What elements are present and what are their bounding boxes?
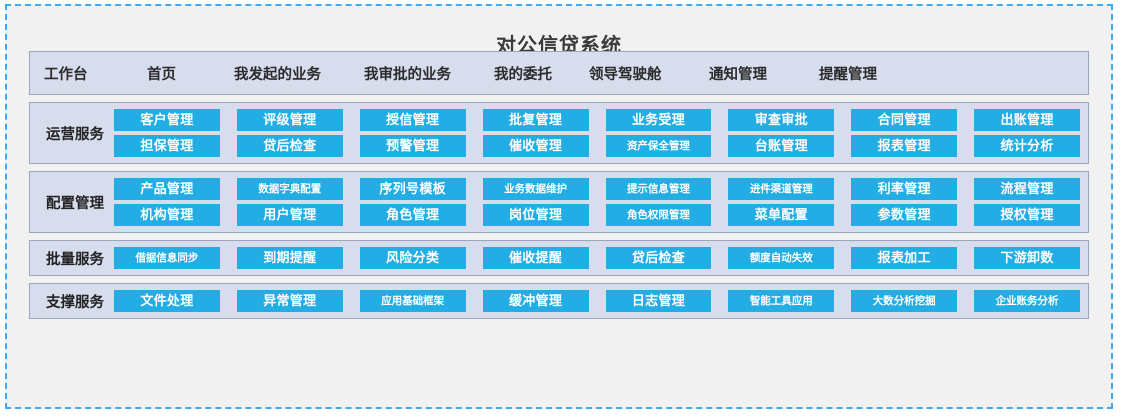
- main-navigation-bar: 工作台首页我发起的业务我审批的业务我的委托领导驾驶舱通知管理提醒管理: [29, 51, 1089, 95]
- section-tile-grid-2: 借据信息同步到期提醒风险分类催收提醒贷后检查额度自动失效报表加工下游卸数: [114, 247, 1080, 269]
- module-tile[interactable]: 提示信息管理: [606, 178, 712, 200]
- nav-item-1[interactable]: 首页: [147, 63, 176, 84]
- module-tile[interactable]: 催收管理: [483, 135, 589, 157]
- module-tile[interactable]: 台账管理: [728, 135, 834, 157]
- section-tile-grid-1: 产品管理数据字典配置序列号模板业务数据维护提示信息管理进件渠道管理利率管理流程管…: [114, 178, 1080, 226]
- module-tile[interactable]: 角色权限管理: [606, 204, 712, 226]
- module-tile[interactable]: 借据信息同步: [114, 247, 220, 269]
- module-tile[interactable]: 角色管理: [360, 204, 466, 226]
- module-tile[interactable]: 文件处理: [114, 290, 220, 312]
- module-tile[interactable]: 催收提醒: [483, 247, 589, 269]
- module-tile[interactable]: 业务数据维护: [483, 178, 589, 200]
- module-tile[interactable]: 序列号模板: [360, 178, 466, 200]
- module-tile[interactable]: 批复管理: [483, 109, 589, 131]
- module-tile[interactable]: 额度自动失效: [728, 247, 834, 269]
- module-tile[interactable]: 客户管理: [114, 109, 220, 131]
- module-tile[interactable]: 报表加工: [851, 247, 957, 269]
- module-tile[interactable]: 进件渠道管理: [728, 178, 834, 200]
- section-label-2: 批量服务: [30, 248, 114, 269]
- section-tile-grid-3: 文件处理异常管理应用基础框架缓冲管理日志管理智能工具应用大数分析挖掘企业账务分析: [114, 290, 1080, 312]
- module-tile[interactable]: 日志管理: [606, 290, 712, 312]
- application-content: 对公信贷系统 工作台首页我发起的业务我审批的业务我的委托领导驾驶舱通知管理提醒管…: [11, 10, 1107, 403]
- module-tile[interactable]: 评级管理: [237, 109, 343, 131]
- module-tile[interactable]: 授信管理: [360, 109, 466, 131]
- module-tile[interactable]: 贷后检查: [606, 247, 712, 269]
- module-tile[interactable]: 预警管理: [360, 135, 466, 157]
- section-panel-3: 支撑服务文件处理异常管理应用基础框架缓冲管理日志管理智能工具应用大数分析挖掘企业…: [29, 283, 1089, 319]
- module-tile[interactable]: 岗位管理: [483, 204, 589, 226]
- nav-item-5[interactable]: 领导驾驶舱: [589, 63, 662, 84]
- module-tile[interactable]: 统计分析: [974, 135, 1080, 157]
- application-frame: 对公信贷系统 工作台首页我发起的业务我审批的业务我的委托领导驾驶舱通知管理提醒管…: [5, 4, 1113, 409]
- module-tile[interactable]: 出账管理: [974, 109, 1080, 131]
- module-tile[interactable]: 利率管理: [851, 178, 957, 200]
- module-tile[interactable]: 缓冲管理: [483, 290, 589, 312]
- module-tile[interactable]: 合同管理: [851, 109, 957, 131]
- module-tile[interactable]: 流程管理: [974, 178, 1080, 200]
- module-tile[interactable]: 下游卸数: [974, 247, 1080, 269]
- section-label-3: 支撑服务: [30, 291, 114, 312]
- module-tile[interactable]: 审查审批: [728, 109, 834, 131]
- section-panel-2: 批量服务借据信息同步到期提醒风险分类催收提醒贷后检查额度自动失效报表加工下游卸数: [29, 240, 1089, 276]
- module-tile[interactable]: 担保管理: [114, 135, 220, 157]
- module-tile[interactable]: 菜单配置: [728, 204, 834, 226]
- nav-item-4[interactable]: 我的委托: [494, 63, 552, 84]
- module-tile[interactable]: 到期提醒: [237, 247, 343, 269]
- module-tile[interactable]: 参数管理: [851, 204, 957, 226]
- module-tile[interactable]: 数据字典配置: [237, 178, 343, 200]
- module-tile[interactable]: 贷后检查: [237, 135, 343, 157]
- module-tile[interactable]: 机构管理: [114, 204, 220, 226]
- module-tile[interactable]: 业务受理: [606, 109, 712, 131]
- nav-item-3[interactable]: 我审批的业务: [364, 63, 451, 84]
- module-tile[interactable]: 大数分析挖掘: [851, 290, 957, 312]
- section-panel-0: 运营服务客户管理评级管理授信管理批复管理业务受理审查审批合同管理出账管理担保管理…: [29, 102, 1089, 164]
- nav-item-2[interactable]: 我发起的业务: [234, 63, 321, 84]
- module-tile[interactable]: 授权管理: [974, 204, 1080, 226]
- nav-item-0[interactable]: 工作台: [44, 63, 88, 84]
- module-tile[interactable]: 企业账务分析: [974, 290, 1080, 312]
- module-tile[interactable]: 应用基础框架: [360, 290, 466, 312]
- module-tile[interactable]: 风险分类: [360, 247, 466, 269]
- module-tile[interactable]: 产品管理: [114, 178, 220, 200]
- module-sections: 运营服务客户管理评级管理授信管理批复管理业务受理审查审批合同管理出账管理担保管理…: [11, 102, 1107, 319]
- module-tile[interactable]: 智能工具应用: [728, 290, 834, 312]
- section-label-1: 配置管理: [30, 192, 114, 213]
- module-tile[interactable]: 异常管理: [237, 290, 343, 312]
- section-panel-1: 配置管理产品管理数据字典配置序列号模板业务数据维护提示信息管理进件渠道管理利率管…: [29, 171, 1089, 233]
- module-tile[interactable]: 资产保全管理: [606, 135, 712, 157]
- nav-item-6[interactable]: 通知管理: [709, 63, 767, 84]
- module-tile[interactable]: 用户管理: [237, 204, 343, 226]
- section-tile-grid-0: 客户管理评级管理授信管理批复管理业务受理审查审批合同管理出账管理担保管理贷后检查…: [114, 109, 1080, 157]
- page-title: 对公信贷系统: [11, 10, 1107, 38]
- nav-item-7[interactable]: 提醒管理: [819, 63, 877, 84]
- section-label-0: 运营服务: [30, 123, 114, 144]
- module-tile[interactable]: 报表管理: [851, 135, 957, 157]
